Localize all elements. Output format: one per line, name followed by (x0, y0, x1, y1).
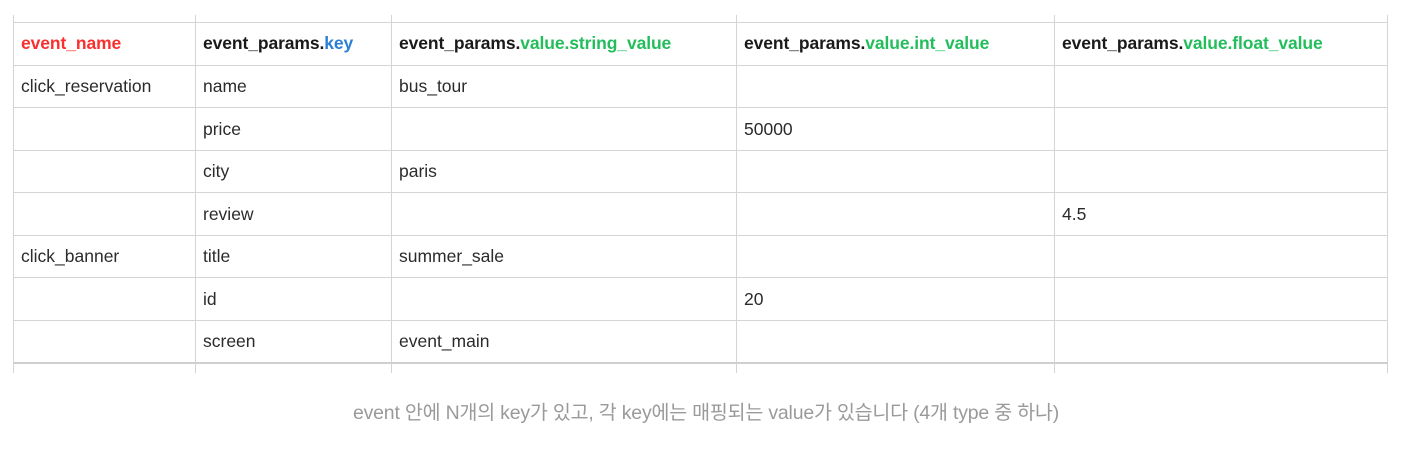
cell-event-name (14, 150, 196, 193)
cell-string-value: event_main (392, 320, 737, 363)
event-params-table: event_name event_params.key event_params… (13, 15, 1388, 373)
cell-clipped (14, 363, 196, 373)
cell-int-value: 20 (737, 278, 1055, 321)
table-row: price 50000 (14, 108, 1388, 151)
cell-event-name (14, 320, 196, 363)
column-header-string-value: event_params.value.string_value (392, 22, 737, 65)
column-header-string-suffix: value.string_value (520, 33, 671, 53)
column-header-event-params-key: event_params.key (196, 22, 392, 65)
cell-clipped (392, 363, 737, 373)
table-body: event_name event_params.key event_params… (14, 15, 1388, 373)
cell-key: name (196, 65, 392, 108)
cell-clipped (392, 15, 737, 22)
cell-float-value (1055, 320, 1388, 363)
cell-event-name (14, 193, 196, 236)
column-header-int-suffix: value.int_value (865, 33, 989, 53)
cell-clipped (1055, 363, 1388, 373)
cell-event-name (14, 278, 196, 321)
cell-int-value (737, 320, 1055, 363)
table-row: id 20 (14, 278, 1388, 321)
cell-string-value: paris (392, 150, 737, 193)
cell-string-value (392, 108, 737, 151)
cell-float-value (1055, 235, 1388, 278)
column-header-string-prefix: event_params. (399, 33, 520, 53)
cell-string-value (392, 193, 737, 236)
column-header-float-suffix: value.float_value (1183, 33, 1322, 53)
cell-key: screen (196, 320, 392, 363)
table-row-clipped-top (14, 15, 1388, 22)
caption-text: event 안에 N개의 key가 있고, 각 key에는 매핑되는 value… (0, 396, 1412, 425)
column-header-key-suffix: key (324, 33, 353, 53)
cell-event-name (14, 108, 196, 151)
cell-int-value (737, 65, 1055, 108)
cell-key: review (196, 193, 392, 236)
cell-string-value: bus_tour (392, 65, 737, 108)
table-header-row: event_name event_params.key event_params… (14, 22, 1388, 65)
cell-clipped (196, 363, 392, 373)
cell-clipped (1055, 15, 1388, 22)
slide-canvas: event_name event_params.key event_params… (0, 0, 1412, 454)
column-header-event-name: event_name (14, 22, 196, 65)
spreadsheet-container: event_name event_params.key event_params… (13, 15, 1387, 373)
cell-int-value (737, 150, 1055, 193)
cell-key: id (196, 278, 392, 321)
cell-clipped (14, 15, 196, 22)
column-header-int-value: event_params.value.int_value (737, 22, 1055, 65)
cell-int-value: 50000 (737, 108, 1055, 151)
cell-string-value: summer_sale (392, 235, 737, 278)
table-row: click_reservation name bus_tour (14, 65, 1388, 108)
table-row: review 4.5 (14, 193, 1388, 236)
cell-float-value (1055, 108, 1388, 151)
cell-key: city (196, 150, 392, 193)
table-row-clipped-bottom (14, 363, 1388, 373)
table-row: city paris (14, 150, 1388, 193)
cell-float-value (1055, 65, 1388, 108)
cell-clipped (737, 363, 1055, 373)
cell-float-value (1055, 150, 1388, 193)
cell-int-value (737, 235, 1055, 278)
table-row: screen event_main (14, 320, 1388, 363)
column-header-key-prefix: event_params. (203, 33, 324, 53)
cell-int-value (737, 193, 1055, 236)
cell-key: price (196, 108, 392, 151)
cell-float-value: 4.5 (1055, 193, 1388, 236)
cell-event-name: click_reservation (14, 65, 196, 108)
table-row: click_banner title summer_sale (14, 235, 1388, 278)
cell-clipped (737, 15, 1055, 22)
cell-float-value (1055, 278, 1388, 321)
column-header-event-name-label: event_name (21, 33, 121, 53)
cell-clipped (196, 15, 392, 22)
cell-string-value (392, 278, 737, 321)
column-header-int-prefix: event_params. (744, 33, 865, 53)
column-header-float-prefix: event_params. (1062, 33, 1183, 53)
cell-event-name: click_banner (14, 235, 196, 278)
column-header-float-value: event_params.value.float_value (1055, 22, 1388, 65)
cell-key: title (196, 235, 392, 278)
